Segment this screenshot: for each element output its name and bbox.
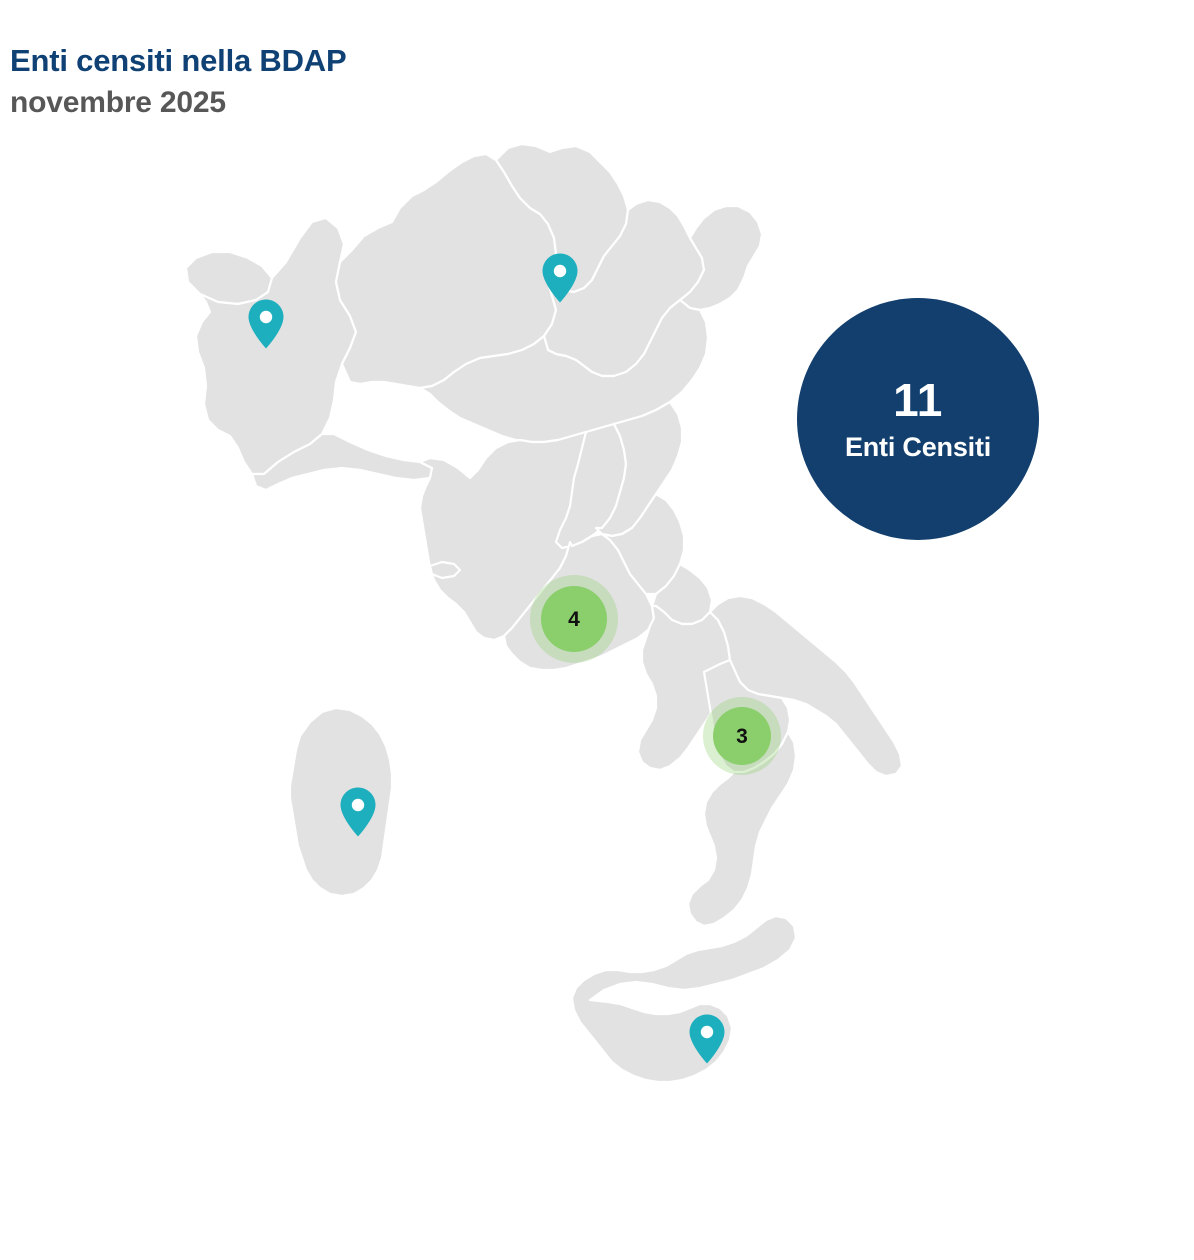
location-pin-icon — [687, 1013, 727, 1065]
location-pin-icon — [540, 252, 580, 304]
infographic-page: Enti censiti nella BDAP novembre 2025 — [0, 0, 1194, 1260]
bubble-count-label: 4 — [568, 609, 580, 630]
region-valle-daosta — [186, 252, 272, 304]
map-pin-veneto[interactable] — [540, 252, 580, 304]
map-pin-sardegna[interactable] — [338, 786, 378, 838]
region-sicilia — [572, 916, 796, 1082]
location-pin-icon — [246, 298, 286, 350]
bubble-count-label: 3 — [736, 726, 748, 747]
map-pin-sicilia[interactable] — [687, 1013, 727, 1065]
map-bubble-lazio[interactable]: 4 — [530, 575, 618, 663]
total-count-badge: 11 Enti Censiti — [797, 298, 1039, 540]
total-count-label: Enti Censiti — [845, 430, 991, 464]
island-elba — [430, 562, 460, 578]
italy-map: 4 3 — [0, 0, 1194, 1260]
map-bubble-campania[interactable]: 3 — [703, 697, 781, 775]
location-pin-icon — [338, 786, 378, 838]
total-count-number: 11 — [893, 374, 943, 426]
map-pin-piemonte[interactable] — [246, 298, 286, 350]
